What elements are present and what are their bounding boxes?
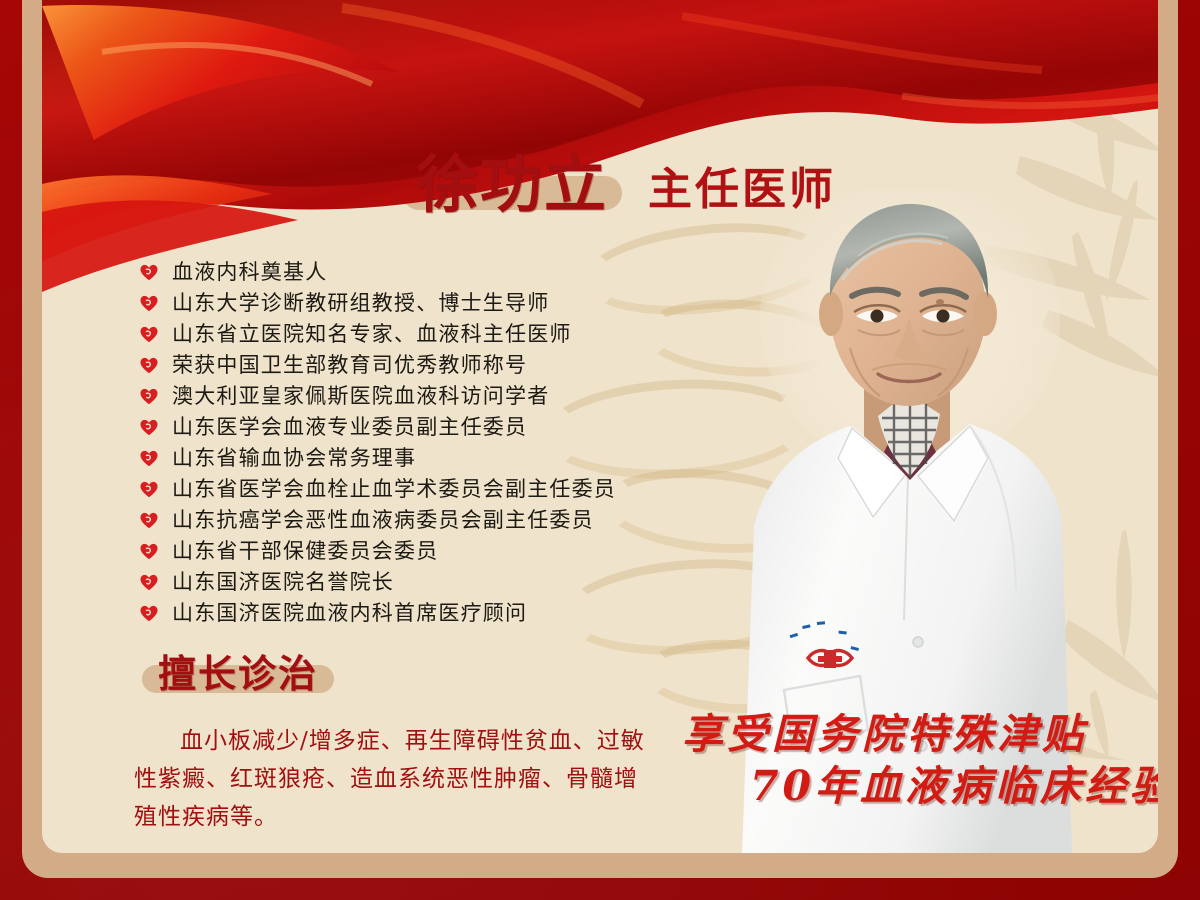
poster-root: 徐功立 主任医师 血液内科奠基人 山东大学诊断教研组教授、博士生导师 <box>0 0 1200 900</box>
list-item: 荣获中国卫生部教育司优秀教师称号 <box>138 348 738 379</box>
heart-icon <box>138 323 160 345</box>
specialty-heading: 擅长诊治 <box>158 651 318 696</box>
heart-icon <box>138 416 160 438</box>
calligraphy-line-2: 70年血液病临床经验 <box>750 760 1158 812</box>
doctor-name: 徐功立 <box>416 148 608 221</box>
list-item: 澳大利亚皇家佩斯医院血液科访问学者 <box>138 379 738 410</box>
list-item-label: 荣获中国卫生部教育司优秀教师称号 <box>172 349 527 379</box>
specialty-body: 血小板减少/增多症、再生障碍性贫血、过敏性紫癜、红斑狼疮、造血系统恶性肿瘤、骨髓… <box>134 722 654 836</box>
list-item-label: 澳大利亚皇家佩斯医院血液科访问学者 <box>172 380 549 410</box>
heart-icon <box>138 602 160 624</box>
list-item-label: 山东省输血协会常务理事 <box>172 442 416 472</box>
heart-icon <box>138 354 160 376</box>
credentials-list: 血液内科奠基人 山东大学诊断教研组教授、博士生导师 山东省立医院知名专家、血液科… <box>138 255 738 627</box>
heart-icon <box>138 478 160 500</box>
doctor-name-box: 徐功立 <box>402 154 622 216</box>
calligraphy-line-1: 享受国务院特殊津贴 <box>682 708 1158 760</box>
heart-icon <box>138 509 160 531</box>
list-item: 山东国济医院血液内科首席医疗顾问 <box>138 596 738 627</box>
heart-icon <box>138 385 160 407</box>
calligraphy-block: 享受国务院特殊津贴 70年血液病临床经验 <box>682 708 1158 812</box>
list-item: 山东省输血协会常务理事 <box>138 441 738 472</box>
list-item-label: 山东抗癌学会恶性血液病委员会副主任委员 <box>172 504 594 534</box>
doctor-role: 主任医师 <box>648 168 836 216</box>
list-item-label: 山东国济医院血液内科首席医疗顾问 <box>172 597 527 627</box>
heart-icon <box>138 540 160 562</box>
list-item: 山东省立医院知名专家、血液科主任医师 <box>138 317 738 348</box>
specialty-heading-box: 擅长诊治 <box>142 652 334 697</box>
list-item: 山东国济医院名誉院长 <box>138 565 738 596</box>
list-item: 山东省干部保健委员会委员 <box>138 534 738 565</box>
list-item-label: 山东省立医院知名专家、血液科主任医师 <box>172 318 572 348</box>
list-item-label: 山东医学会血液专业委员副主任委员 <box>172 411 527 441</box>
list-item-label: 山东省医学会血栓止血学术委员会副主任委员 <box>172 473 616 503</box>
heart-icon <box>138 571 160 593</box>
list-item: 山东省医学会血栓止血学术委员会副主任委员 <box>138 472 738 503</box>
list-item-label: 山东国济医院名誉院长 <box>172 566 394 596</box>
paper-card: 徐功立 主任医师 血液内科奠基人 山东大学诊断教研组教授、博士生导师 <box>42 0 1158 853</box>
list-item: 山东抗癌学会恶性血液病委员会副主任委员 <box>138 503 738 534</box>
heart-icon <box>138 447 160 469</box>
list-item-label: 山东省干部保健委员会委员 <box>172 535 438 565</box>
list-item: 山东医学会血液专业委员副主任委员 <box>138 410 738 441</box>
